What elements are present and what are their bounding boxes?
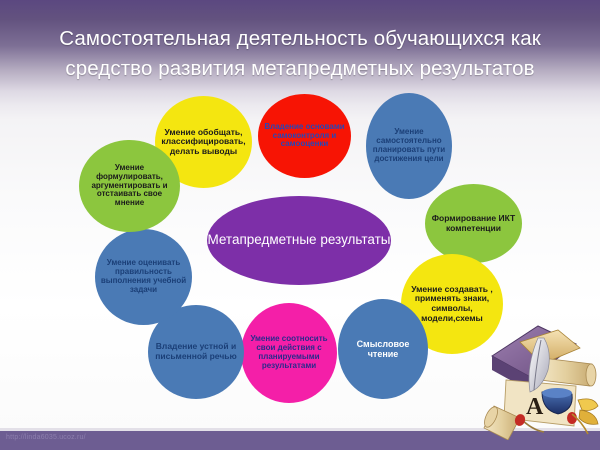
bubble-label: Умение самостоятельно планировать пути д… bbox=[371, 128, 447, 164]
watermark-url: http://linda6035.ucoz.ru/ bbox=[6, 434, 86, 441]
center-node-label: Метапредметные результаты bbox=[207, 231, 390, 249]
bubble-label: Владение устной и письменной речью bbox=[153, 342, 239, 361]
book-scroll-quill-inkwell-icon: A bbox=[480, 314, 600, 440]
bubble-label: Владение основами самоконтроля и самооце… bbox=[263, 123, 346, 150]
bubble-label: Умение соотносить свои действия с планир… bbox=[246, 335, 332, 371]
clipart-letter: A bbox=[526, 394, 544, 420]
bubble-samokontrol: Владение основами самоконтроля и самооце… bbox=[258, 94, 351, 178]
bubble-label: Умение оценивать правильность выполнения… bbox=[100, 259, 187, 295]
bubble-smyslovoe-chtenie: Смысловое чтение bbox=[338, 299, 428, 399]
bubble-label: Формирование ИКТ компетенции bbox=[430, 214, 517, 233]
slide-title: Самостоятельная деятельность обучающихся… bbox=[28, 24, 572, 84]
bubble-sootnosit-deystviya: Умение соотносить свои действия с планир… bbox=[241, 303, 337, 403]
bubble-label: Умение обобщать, классифицировать, делат… bbox=[160, 128, 247, 157]
bubble-label: Умение формулировать, аргументировать и … bbox=[84, 164, 175, 209]
bubble-ocenivat-pravilnost: Умение оценивать правильность выполнения… bbox=[95, 229, 192, 325]
bubble-label: Смысловое чтение bbox=[343, 339, 423, 359]
bubble-planirovat-puti: Умение самостоятельно планировать пути д… bbox=[366, 93, 452, 199]
presentation-slide: Самостоятельная деятельность обучающихся… bbox=[0, 0, 600, 450]
bubble-formulirovat-argumentirovat: Умение формулировать, аргументировать и … bbox=[79, 140, 180, 232]
bubble-ikt-kompetencii: Формирование ИКТ компетенции bbox=[425, 184, 522, 263]
center-node-metapredmetnye-rezultaty: Метапредметные результаты bbox=[207, 196, 391, 285]
